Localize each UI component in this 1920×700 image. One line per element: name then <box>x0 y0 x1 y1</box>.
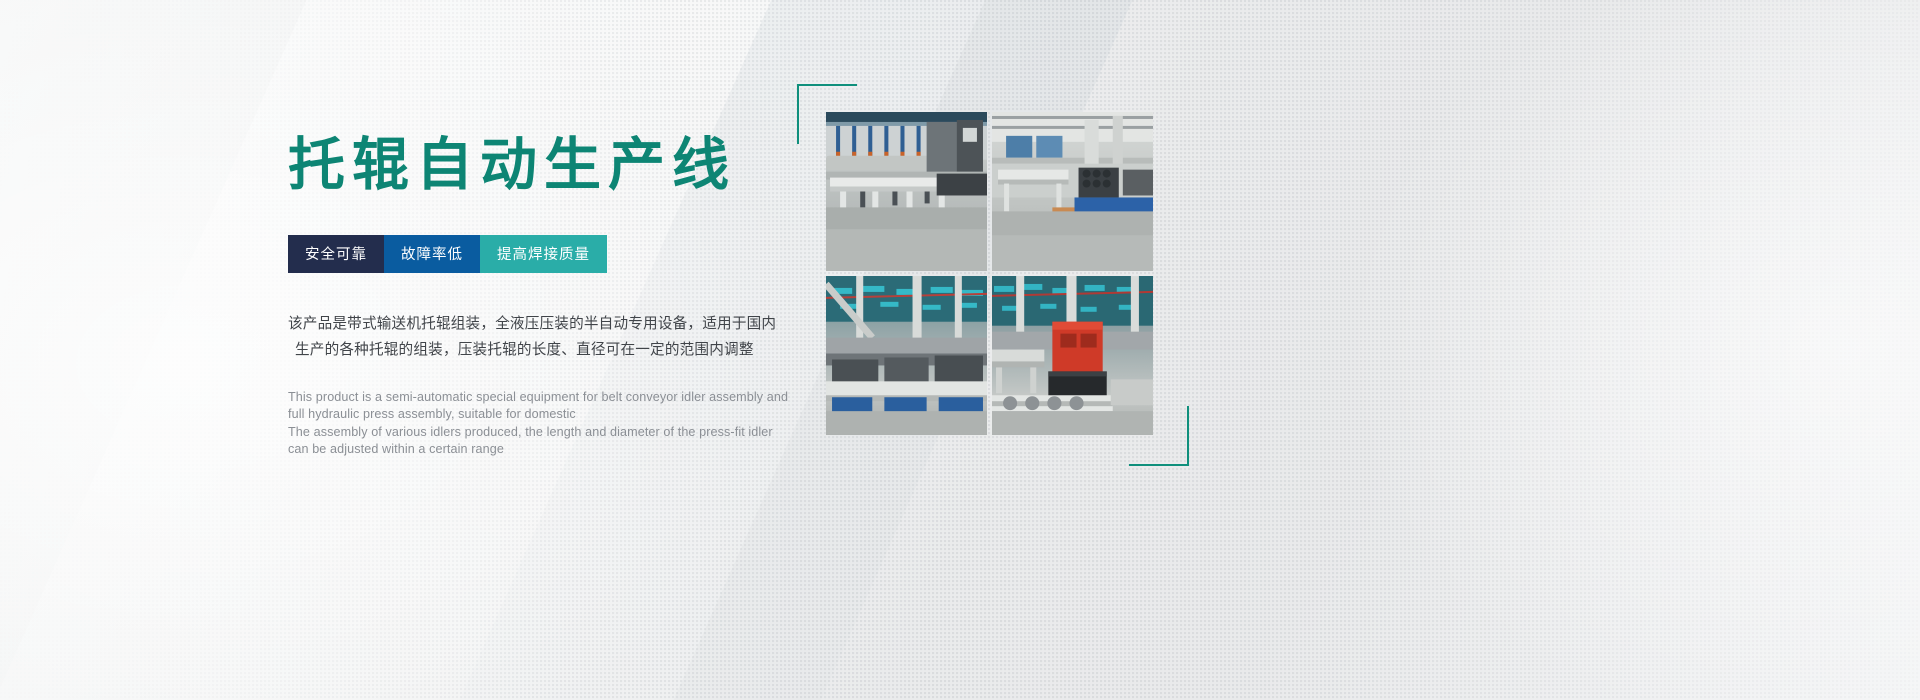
description-en-line-4: can be adjusted within a certain range <box>288 441 758 459</box>
banner-text-column: 托辊自动生产线 安全可靠 故障率低 提高焊接质量 该产品是带式输送机托辊组装，全… <box>288 134 758 459</box>
description-cn-line-1: 该产品是带式输送机托辊组装，全液压压装的半自动专用设备，适用于国内 <box>288 311 758 337</box>
description-en-line-3: The assembly of various idlers produced,… <box>288 424 758 442</box>
photo-grid <box>826 112 1153 435</box>
description-en-line-1: This product is a semi-automatic special… <box>288 389 758 407</box>
photo-workshop-benches-top-right[interactable] <box>992 112 1153 271</box>
description-en-line-2: full hydraulic press assembly, suitable … <box>288 406 758 424</box>
page-title: 托辊自动生产线 <box>288 134 758 197</box>
description-chinese: 该产品是带式输送机托辊组装，全液压压装的半自动专用设备，适用于国内 生产的各种托… <box>288 311 758 363</box>
photo-assembly-machines-bottom-left[interactable] <box>826 276 987 435</box>
badge-improve-weld-quality[interactable]: 提高焊接质量 <box>480 235 607 273</box>
photo-gallery <box>797 84 1189 466</box>
description-cn-line-2: 生产的各种托辊的组装，压装托辊的长度、直径可在一定的范围内调整 <box>288 337 758 363</box>
photo-conveyor-line-top-left[interactable] <box>826 112 987 271</box>
description-english: This product is a semi-automatic special… <box>288 389 758 459</box>
badge-safe-reliable[interactable]: 安全可靠 <box>288 235 384 273</box>
product-banner: 托辊自动生产线 安全可靠 故障率低 提高焊接质量 该产品是带式输送机托辊组装，全… <box>0 0 1920 700</box>
badge-low-failure-rate[interactable]: 故障率低 <box>384 235 480 273</box>
photo-red-press-machine-bottom-right[interactable] <box>992 276 1153 435</box>
feature-badge-row: 安全可靠 故障率低 提高焊接质量 <box>288 235 758 273</box>
